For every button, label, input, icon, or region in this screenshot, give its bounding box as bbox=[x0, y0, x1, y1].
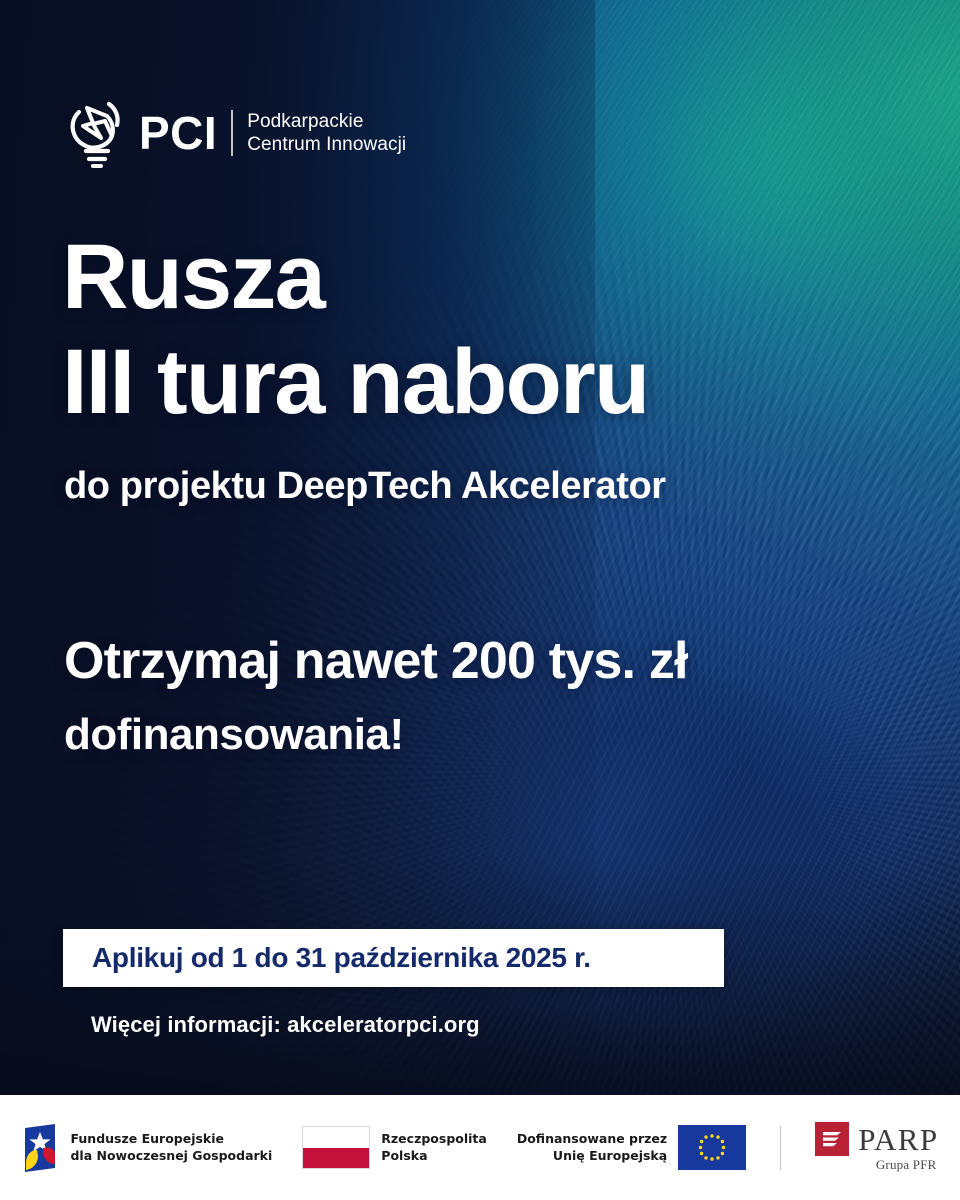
more-info: Więcej informacji: akceleratorpci.org bbox=[91, 1012, 480, 1038]
headline-line-1: Rusza bbox=[62, 232, 648, 323]
more-info-label: Więcej informacji: bbox=[91, 1012, 281, 1037]
pci-lightbulb-arrow-icon bbox=[63, 96, 125, 170]
pci-full-name: Podkarpackie Centrum Innowacji bbox=[247, 110, 406, 156]
pci-logo[interactable]: PCI Podkarpackie Centrum Innowacji bbox=[63, 96, 406, 170]
parp-wordmark: PARP bbox=[858, 1124, 938, 1155]
amount-line-1: Otrzymaj nawet 200 tys. zł bbox=[64, 635, 688, 687]
footer-divider bbox=[780, 1126, 781, 1170]
fundusze-europejskie-text: Fundusze Europejskie dla Nowoczesnej Gos… bbox=[70, 1131, 272, 1164]
logo-divider bbox=[231, 110, 233, 156]
funduszeeuropejskie-star-icon bbox=[21, 1124, 59, 1172]
poland-flag-icon bbox=[302, 1126, 370, 1169]
funding-logo-fundusze-europejskie: Fundusze Europejskie dla Nowoczesnej Gos… bbox=[21, 1124, 272, 1172]
funding-logo-european-union: Dofinansowane przez Unię Europejską bbox=[517, 1125, 746, 1170]
funding-logo-parp: PARP Grupa PFR bbox=[815, 1122, 938, 1173]
headline-line-2: III tura naboru bbox=[62, 337, 648, 428]
european-union-text: Dofinansowane przez Unię Europejską bbox=[517, 1131, 667, 1164]
headline: Rusza III tura naboru bbox=[62, 232, 648, 428]
application-dates-text: Aplikuj od 1 do 31 października 2025 r. bbox=[63, 942, 591, 974]
amount-line-2: dofinansowania! bbox=[64, 713, 404, 757]
funding-logos-footer: Fundusze Europejskie dla Nowoczesnej Gos… bbox=[0, 1095, 960, 1200]
rzeczpospolita-polska-text: Rzeczpospolita Polska bbox=[381, 1131, 487, 1164]
promo-poster: PCI Podkarpackie Centrum Innowacji Rusza… bbox=[0, 0, 960, 1200]
subheadline: do projektu DeepTech Akcelerator bbox=[64, 466, 666, 508]
application-dates-box[interactable]: Aplikuj od 1 do 31 października 2025 r. bbox=[63, 929, 724, 987]
european-union-flag-icon bbox=[678, 1125, 746, 1170]
parp-subtitle: Grupa PFR bbox=[876, 1157, 937, 1173]
pci-acronym: PCI bbox=[139, 110, 217, 156]
more-info-url[interactable]: akceleratorpci.org bbox=[287, 1012, 480, 1037]
funding-logo-rzeczpospolita-polska: Rzeczpospolita Polska bbox=[302, 1126, 487, 1169]
parp-mark-icon bbox=[815, 1122, 849, 1156]
